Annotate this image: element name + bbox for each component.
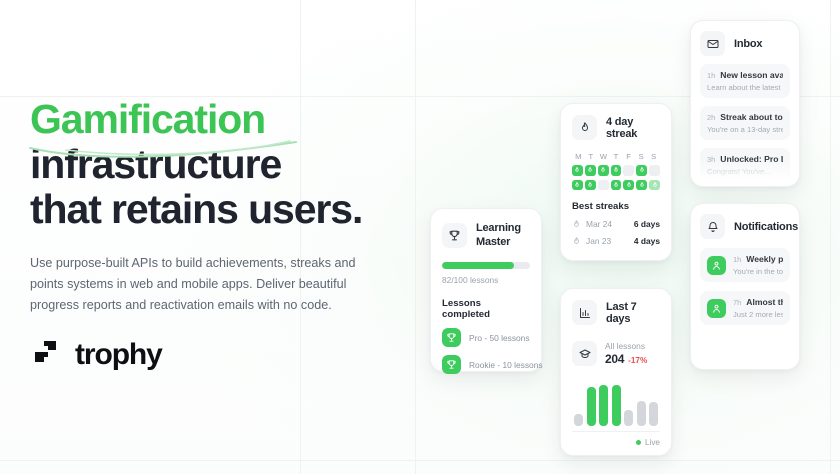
streak-day-cell[interactable] (649, 180, 660, 191)
best-streak-value: 6 days (634, 219, 660, 229)
inbox-message-item[interactable]: 2hStreak about to …You're on a 13-day st… (700, 106, 790, 140)
best-streaks-title: Best streaks (572, 201, 660, 212)
message-time: 2h (707, 113, 715, 122)
avatar (707, 256, 726, 275)
streak-day-label: T (585, 152, 598, 161)
progress-label: 82/100 lessons (442, 275, 530, 285)
grid-line-h (0, 460, 840, 461)
notification-title: Almost th… (746, 297, 783, 307)
envelope-icon (700, 31, 725, 56)
notification-item[interactable]: 7hAlmost th…Just 2 more les… (700, 291, 790, 325)
streak-grid-week-2 (572, 180, 660, 191)
live-status: Live (572, 431, 660, 447)
bar-chart-bar (637, 401, 646, 426)
progress-bar-fill (442, 262, 514, 269)
best-streak-value: 4 days (634, 236, 660, 246)
notification-time: 7h (733, 298, 741, 307)
inbox-message-list: 1hNew lesson avail…Learn about the lates… (700, 64, 790, 182)
list-item[interactable]: Rookie - 10 lessons (442, 355, 530, 374)
streak-day-label: F (622, 152, 635, 161)
notification-item[interactable]: 1hWeekly pr…You're in the to… (700, 248, 790, 282)
inbox-message-item[interactable]: 3hUnlocked: Pro L…Congrats! You've… (700, 148, 790, 182)
week-card-header: Last 7 days (572, 300, 660, 325)
learning-card-title: Learning Master (476, 221, 521, 249)
streak-day-cell[interactable] (598, 165, 609, 176)
streak-day-labels: MTWTFSS (572, 152, 660, 161)
live-label: Live (645, 438, 660, 447)
learning-master-card[interactable]: Learning Master 82/100 lessons Lessons c… (430, 208, 542, 372)
notifications-card-header: Notifications (700, 214, 790, 239)
message-time: 3h (707, 155, 715, 164)
hero-headline: Gamification infrastructure that retains… (30, 97, 430, 232)
stat-value: 204 (605, 352, 624, 366)
lessons-icon (572, 341, 597, 366)
lessons-completed-title: Lessons completed (442, 298, 530, 320)
bar-chart-bar (599, 385, 608, 426)
streak-day-cell[interactable] (598, 180, 609, 191)
grid-line-v (300, 0, 301, 474)
streak-day-label: S (647, 152, 660, 161)
badge-label: Pro - 50 lessons (469, 333, 530, 343)
best-streak-date: Mar 24 (586, 219, 629, 229)
streak-day-cell[interactable] (623, 165, 634, 176)
all-lessons-stat: All lessons 204 -17% (572, 341, 660, 366)
page-title: Gamification infrastructure that retains… (30, 97, 430, 232)
notification-preview: You're in the to… (733, 267, 783, 276)
learning-title-line2: Master (476, 236, 510, 248)
notification-list: 1hWeekly pr…You're in the to…7hAlmost th… (700, 248, 790, 325)
progress-bar (442, 262, 530, 269)
notification-preview: Just 2 more les… (733, 310, 783, 319)
grid-line-v (830, 0, 831, 474)
bar-chart-bar (624, 410, 633, 426)
flame-icon (572, 237, 581, 246)
hero-subcopy: Use purpose-built APIs to build achievem… (30, 253, 382, 316)
notifications-card-title: Notifications (734, 221, 798, 233)
trophy-blocks-logo-icon (30, 339, 64, 371)
best-streak-date: Jan 23 (586, 236, 629, 246)
grid-line-v (415, 0, 416, 474)
inbox-card-header: Inbox (700, 31, 790, 56)
flame-icon (572, 220, 581, 229)
last-7-days-card[interactable]: Last 7 days All lessons 204 -17% Live (560, 288, 672, 456)
message-title: Unlocked: Pro L… (720, 154, 783, 164)
streak-grid-week-1 (572, 165, 660, 176)
badge-label: Rookie - 10 lessons (469, 360, 543, 370)
message-preview: You're on a 13-day stre… (707, 125, 783, 134)
streak-day-label: W (597, 152, 610, 161)
streak-day-cell[interactable] (636, 180, 647, 191)
stat-delta: -17% (628, 356, 647, 365)
streak-day-cell[interactable] (585, 165, 596, 176)
table-row: Mar 24 6 days (572, 219, 660, 229)
notification-time: 1h (733, 255, 741, 264)
notifications-card[interactable]: Notifications 1hWeekly pr…You're in the … (690, 203, 800, 370)
message-time: 1h (707, 71, 715, 80)
streak-day-label: M (572, 152, 585, 161)
streak-day-cell[interactable] (611, 165, 622, 176)
learning-card-header: Learning Master (442, 221, 530, 249)
stat-label: All lessons (605, 341, 647, 351)
streak-day-cell[interactable] (611, 180, 622, 191)
inbox-card[interactable]: Inbox 1hNew lesson avail…Learn about the… (690, 20, 800, 187)
learning-title-line1: Learning (476, 222, 521, 234)
headline-underline-swoosh (28, 139, 300, 161)
streak-day-cell[interactable] (572, 165, 583, 176)
message-title: Streak about to … (720, 112, 783, 122)
message-title: New lesson avail… (720, 70, 783, 80)
avatar (707, 299, 726, 318)
streak-card[interactable]: 4 day streak MTWTFSS Best streaks Mar 24… (560, 103, 672, 261)
inbox-message-item[interactable]: 1hNew lesson avail…Learn about the lates… (700, 64, 790, 98)
streak-day-cell[interactable] (649, 165, 660, 176)
streak-day-cell[interactable] (572, 180, 583, 191)
trophy-icon (442, 223, 467, 248)
headline-line-3: that retains users. (30, 186, 362, 232)
list-item[interactable]: Pro - 50 lessons (442, 328, 530, 347)
inbox-card-title: Inbox (734, 38, 762, 50)
table-row: Jan 23 4 days (572, 236, 660, 246)
live-dot-icon (636, 440, 641, 445)
streak-card-header: 4 day streak (572, 115, 660, 140)
streak-card-title: 4 day streak (606, 116, 660, 140)
streak-day-label: S (635, 152, 648, 161)
notification-title: Weekly pr… (746, 254, 783, 264)
bar-chart (572, 378, 660, 426)
page-canvas: Gamification infrastructure that retains… (0, 0, 840, 474)
streak-day-label: T (610, 152, 623, 161)
bar-chart-bar (587, 387, 596, 426)
brand-wordmark: trophy (75, 338, 162, 372)
streak-day-cell[interactable] (585, 180, 596, 191)
trophy-icon (442, 355, 461, 374)
streak-day-cell[interactable] (623, 180, 634, 191)
streak-day-cell[interactable] (636, 165, 647, 176)
bar-chart-bar (612, 385, 621, 426)
bar-chart-icon (572, 300, 597, 325)
headline-highlight: Gamification (30, 96, 265, 142)
message-preview: Learn about the latest … (707, 83, 783, 92)
message-preview: Congrats! You've… (707, 167, 783, 176)
bell-icon (700, 214, 725, 239)
trophy-icon (442, 328, 461, 347)
week-card-title: Last 7 days (606, 301, 660, 325)
brand-logo: trophy (30, 338, 162, 372)
flame-icon (572, 115, 597, 140)
bar-chart-bar (649, 402, 658, 426)
bar-chart-bar (574, 414, 583, 426)
